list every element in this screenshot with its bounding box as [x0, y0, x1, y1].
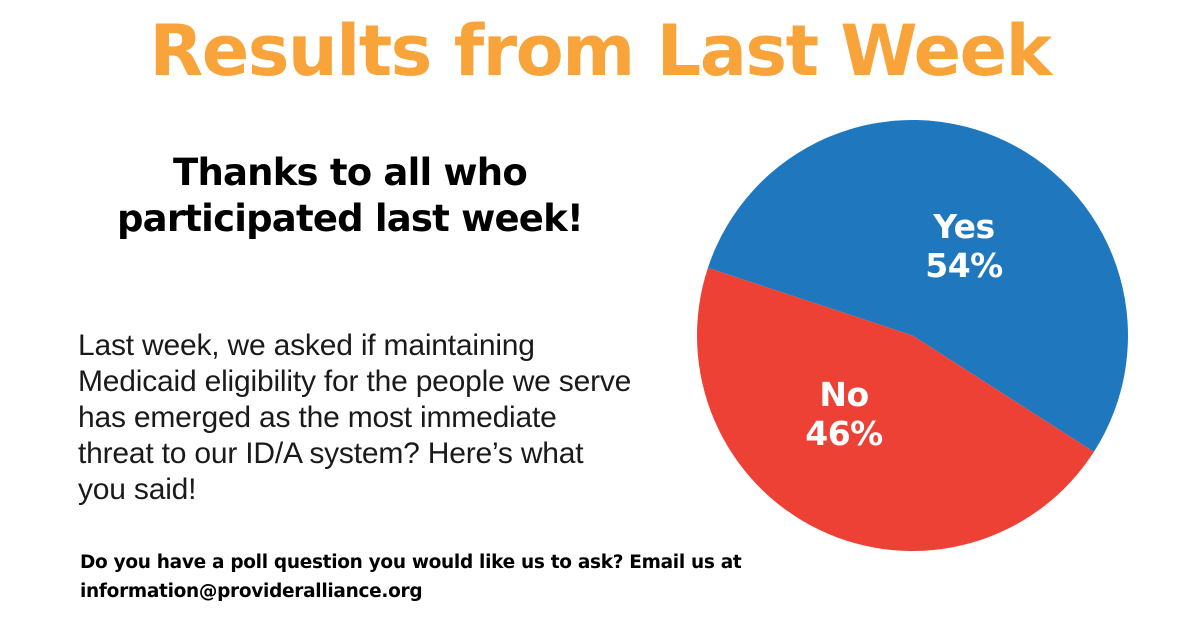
pie-label-no: No 46%: [769, 375, 919, 453]
poll-results-poster: Results from Last Week Thanks to all who…: [0, 0, 1200, 630]
left-text-column: Thanks to all who participated last week…: [60, 150, 640, 242]
pie-label-no-value: 46%: [805, 414, 883, 453]
page-title: Results from Last Week: [0, 8, 1200, 94]
footer-line-1: Do you have a poll question you would li…: [80, 548, 820, 577]
body-paragraph: Last week, we asked if maintaining Medic…: [78, 328, 638, 508]
pie-label-yes-name: Yes: [933, 207, 994, 246]
footer-email: information@provideralliance.org: [80, 577, 820, 606]
pie-label-yes: Yes 54%: [889, 207, 1039, 285]
pie-label-no-name: No: [819, 375, 868, 414]
footer-contact: Do you have a poll question you would li…: [80, 548, 820, 606]
pie-chart-svg: [697, 120, 1128, 551]
pie-chart: Yes 54% No 46%: [697, 120, 1128, 551]
pie-label-yes-value: 54%: [925, 246, 1003, 285]
subheading: Thanks to all who participated last week…: [60, 150, 640, 242]
